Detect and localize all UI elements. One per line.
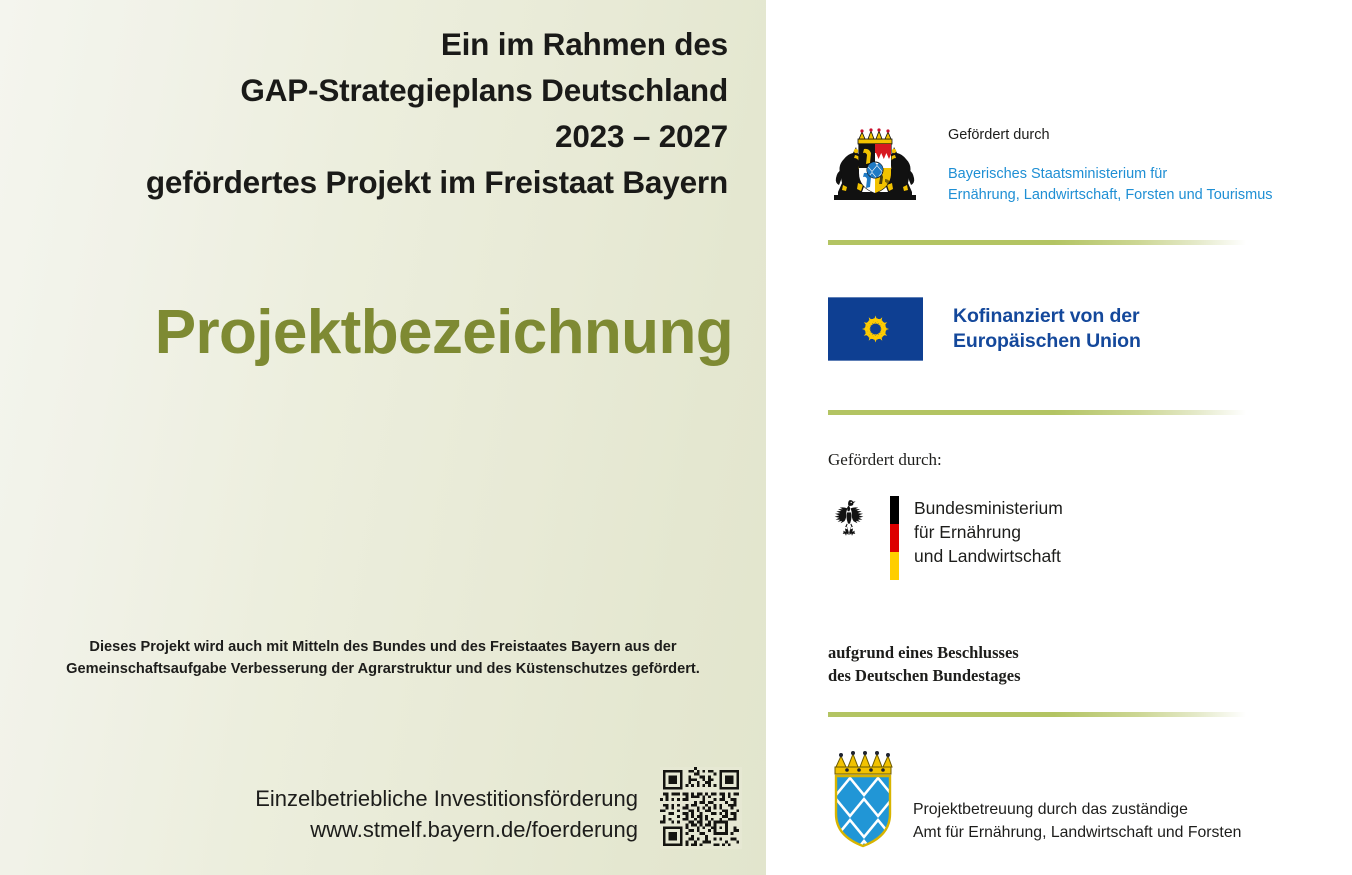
- bayern-shield-icon: [828, 750, 898, 850]
- aelf-text: Projektbetreuung durch das zuständige Am…: [913, 755, 1241, 845]
- bundesadler-eagle-icon: [828, 496, 870, 538]
- bayern-ministry-text: Gefördert durch Bayerisches Staatsminist…: [948, 125, 1273, 206]
- bmel-name: Bundesministerium für Ernährung und Land…: [914, 496, 1063, 568]
- programme-label: Einzelbetriebliche Investitionsförderung: [255, 784, 638, 814]
- divider-2: [828, 410, 1246, 415]
- bmel-footnote-line-2: des Deutschen Bundestages: [828, 664, 1021, 687]
- headline-line-2: GAP-Strategieplans Deutschland: [28, 68, 728, 114]
- aelf-text-line-1: Projektbetreuung durch das zuständige: [913, 799, 1241, 822]
- programme-and-url: Einzelbetriebliche Investitionsförderung…: [255, 784, 638, 849]
- divider-3: [828, 712, 1246, 717]
- right-panel: Gefördert durch Bayerisches Staatsminist…: [766, 0, 1352, 875]
- qr-code-icon[interactable]: [660, 767, 742, 849]
- funding-note-line-1: Dieses Projekt wird auch mit Mitteln des…: [22, 636, 744, 658]
- eu-funding-text: Kofinanziert von der Europäischen Union: [953, 297, 1141, 354]
- bmel-block: Bundesministerium für Ernährung und Land…: [828, 496, 1063, 580]
- headline-line-3: 2023 – 2027: [28, 114, 728, 160]
- bayern-name-line-1: Bayerisches Staatsministerium für: [948, 164, 1273, 185]
- german-flag-bar: [890, 496, 899, 580]
- headline-line-1: Ein im Rahmen des: [28, 22, 728, 68]
- bmel-name-line-1: Bundesministerium: [914, 497, 1063, 521]
- eu-text-line-1: Kofinanziert von der: [953, 304, 1141, 329]
- bmel-footnote-line-1: aufgrund eines Beschlusses: [828, 641, 1021, 664]
- eu-funding-block: Kofinanziert von der Europäischen Union: [828, 297, 1141, 361]
- left-panel: Ein im Rahmen des GAP-Strategieplans Deu…: [0, 0, 766, 875]
- funding-note: Dieses Projekt wird auch mit Mitteln des…: [22, 636, 744, 680]
- project-title: Projektbezeichnung: [3, 300, 733, 365]
- headline-line-4: gefördertes Projekt im Freistaat Bayern: [28, 160, 728, 206]
- website-url[interactable]: www.stmelf.bayern.de/foerderung: [255, 815, 638, 845]
- bayern-name-line-2: Ernährung, Landwirtschaft, Forsten und T…: [948, 185, 1273, 206]
- funding-note-line-2: Gemeinschaftsaufgabe Verbesserung der Ag…: [22, 658, 744, 680]
- eu-text-line-2: Europäischen Union: [953, 329, 1141, 354]
- bottom-left-group: Einzelbetriebliche Investitionsförderung…: [30, 767, 742, 849]
- bayern-coat-of-arms-icon: [828, 125, 922, 205]
- project-sign-board: Ein im Rahmen des GAP-Strategieplans Deu…: [0, 0, 1352, 875]
- bmel-footnote: aufgrund eines Beschlusses des Deutschen…: [828, 641, 1021, 688]
- aelf-block: Projektbetreuung durch das zuständige Am…: [828, 750, 1241, 850]
- bmel-kicker: Gefördert durch:: [828, 450, 942, 470]
- bayern-ministry-name: Bayerisches Staatsministerium für Ernähr…: [948, 164, 1273, 206]
- aelf-text-line-2: Amt für Ernährung, Landwirtschaft und Fo…: [913, 822, 1241, 845]
- bmel-name-line-3: und Landwirtschaft: [914, 545, 1063, 569]
- bmel-name-line-2: für Ernährung: [914, 521, 1063, 545]
- divider-1: [828, 240, 1246, 245]
- bayern-kicker: Gefördert durch: [948, 127, 1273, 144]
- eu-flag-icon: [828, 297, 923, 361]
- bayern-ministry-block: Gefördert durch Bayerisches Staatsminist…: [828, 125, 1273, 206]
- headline: Ein im Rahmen des GAP-Strategieplans Deu…: [28, 22, 728, 206]
